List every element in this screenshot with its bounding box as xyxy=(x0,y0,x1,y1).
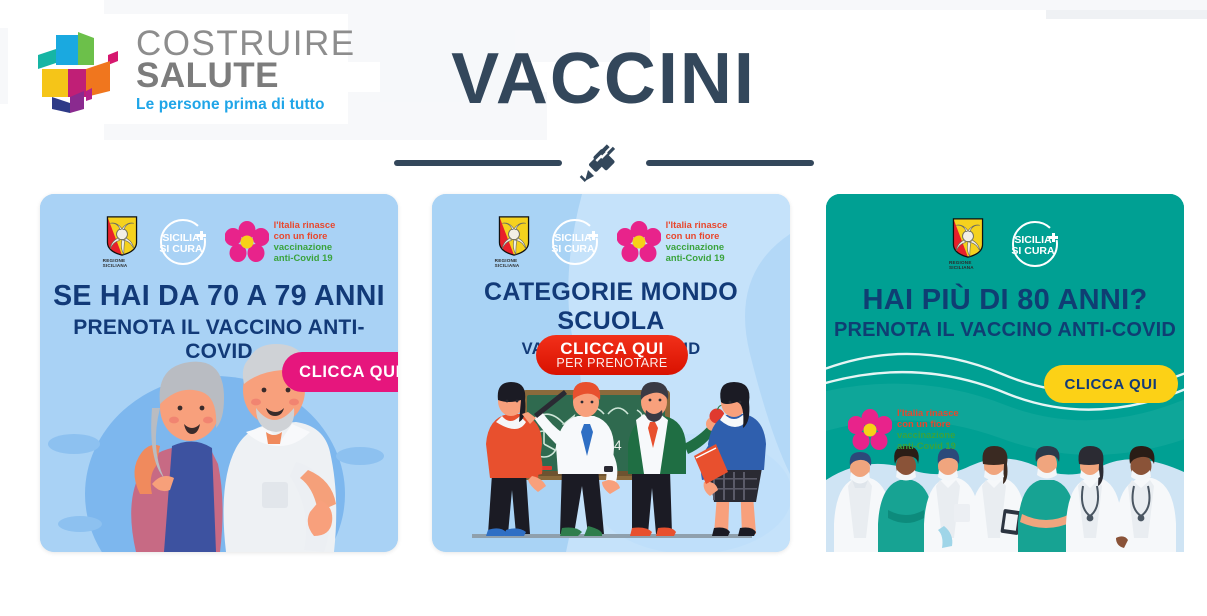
title-divider xyxy=(0,140,1207,186)
card-badge-row: REGIONE SICILIANA SICILIA SI CURA xyxy=(826,218,1184,270)
fiore-line-4: anti-Covid 19 xyxy=(274,253,336,264)
page-header: COSTRUIRE SALUTE Le persone prima di tut… xyxy=(0,0,1207,190)
page-title: VACCINI xyxy=(0,38,1207,120)
button-label: CLICCA QUI xyxy=(560,340,664,358)
button-label: CLICCA QUI xyxy=(1065,376,1158,393)
sicilia-si-cura-icon: SICILIA SI CURA xyxy=(1009,218,1061,270)
pink-flower-icon xyxy=(848,409,892,451)
card-headline: HAI PIÙ DI 80 ANNI? xyxy=(826,284,1184,317)
crest-caption: REGIONE SICILIANA xyxy=(495,258,533,268)
pink-flower-icon xyxy=(617,221,661,263)
button-sublabel: PER PRENOTARE xyxy=(556,357,667,370)
card-row: REGIONE SICILIANA SICILIA SI CURA xyxy=(0,194,1207,556)
regione-siciliana-crest-icon: REGIONE SICILIANA xyxy=(495,216,533,268)
clicca-qui-button[interactable]: CLICCA QUI xyxy=(282,352,398,392)
fiore-line-4: anti-Covid 19 xyxy=(666,253,728,264)
card-mondo-scuola[interactable]: 2+2=4 xyxy=(432,194,790,552)
italia-rinasce-fiore-badge: l'Italia rinasce con un fiore vaccinazio… xyxy=(848,408,959,452)
clicca-qui-button[interactable]: CLICCA QUI xyxy=(1044,365,1178,403)
regione-siciliana-crest-icon: REGIONE SICILIANA xyxy=(949,218,987,270)
pink-flower-icon xyxy=(225,221,269,263)
clicca-qui-button[interactable]: CLICCA QUI PER PRENOTARE xyxy=(536,335,688,375)
sicilia-si-cura-icon: SICILIA SI CURA xyxy=(157,216,209,268)
button-label: CLICCA QUI xyxy=(299,363,398,382)
card-headline: SE HAI DA 70 A 79 ANNI xyxy=(40,280,398,313)
card-badge-row: REGIONE SICILIANA SICILIA SI CURA xyxy=(40,216,398,268)
card-over-80[interactable]: REGIONE SICILIANA SICILIA SI CURA HAI PI… xyxy=(826,194,1184,552)
svg-text:SI CURA: SI CURA xyxy=(1011,245,1055,257)
svg-text:SI CURA: SI CURA xyxy=(551,243,595,255)
italia-rinasce-fiore-badge: l'Italia rinasce con un fiore vaccinazio… xyxy=(225,220,336,264)
sicilia-si-cura-icon: SICILIA SI CURA xyxy=(549,216,601,268)
divider-line-right xyxy=(646,160,814,166)
syringe-icon xyxy=(578,140,630,186)
card-70-79[interactable]: REGIONE SICILIANA SICILIA SI CURA xyxy=(40,194,398,552)
italia-rinasce-fiore-badge: l'Italia rinasce con un fiore vaccinazio… xyxy=(617,220,728,264)
card-subhead: PRENOTA IL VACCINO ANTI-COVID xyxy=(826,319,1184,342)
divider-line-left xyxy=(394,160,562,166)
svg-text:SI CURA: SI CURA xyxy=(159,243,203,255)
card-headline: CATEGORIE MONDO SCUOLA xyxy=(432,278,790,336)
fiore-line-4: anti-Covid 19 xyxy=(897,441,959,452)
crest-caption: REGIONE SICILIANA xyxy=(949,260,987,270)
card-badge-row: REGIONE SICILIANA SICILIA SI CURA xyxy=(432,216,790,268)
crest-caption: REGIONE SICILIANA xyxy=(103,258,141,268)
vaccini-banner-page: COSTRUIRE SALUTE Le persone prima di tut… xyxy=(0,0,1207,616)
regione-siciliana-crest-icon: REGIONE SICILIANA xyxy=(103,216,141,268)
card-headline-group: HAI PIÙ DI 80 ANNI? PRENOTA IL VACCINO A… xyxy=(826,284,1184,342)
